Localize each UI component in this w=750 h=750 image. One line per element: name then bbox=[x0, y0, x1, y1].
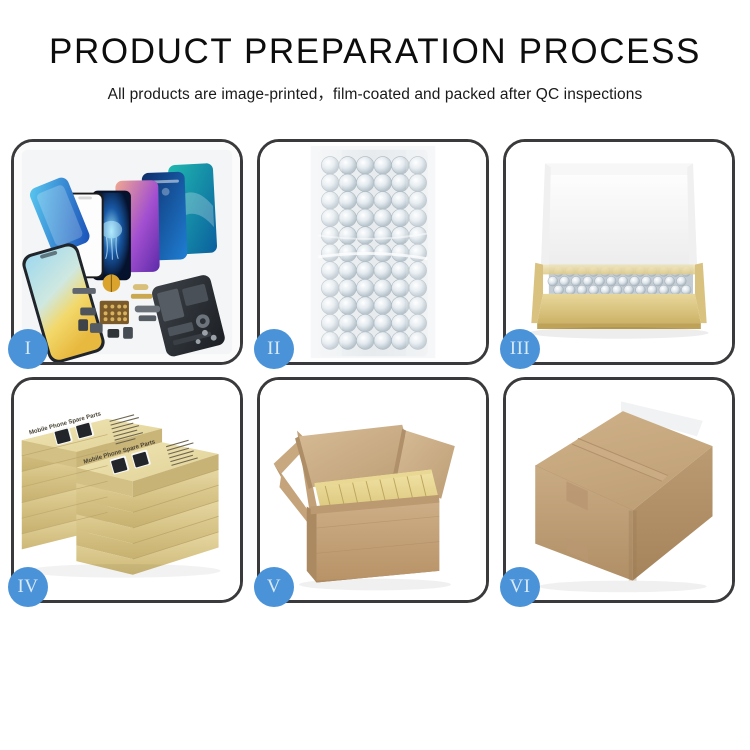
page-header: PRODUCT PREPARATION PROCESS All products… bbox=[0, 0, 750, 104]
page-title: PRODUCT PREPARATION PROCESS bbox=[0, 34, 750, 71]
page-subtitle: All products are image-printed，film-coat… bbox=[0, 82, 750, 104]
step-badge-1: I bbox=[8, 329, 48, 369]
step-image-sealed-carton bbox=[506, 380, 732, 600]
step-badge-4: IV bbox=[8, 567, 48, 607]
step-panel-5: V bbox=[257, 377, 489, 603]
step-badge-2: II bbox=[254, 329, 294, 369]
step-panel-6: VI bbox=[503, 377, 735, 603]
step-badge-3: III bbox=[500, 329, 540, 369]
step-panel-3: III bbox=[503, 139, 735, 365]
step-panel-2: II bbox=[257, 139, 489, 365]
step-image-product-parts bbox=[14, 142, 240, 362]
step-image-bubble-wrap bbox=[260, 142, 486, 362]
step-badge-6: VI bbox=[500, 567, 540, 607]
step-image-stacked-boxes: Mobile Phone Spare Parts bbox=[14, 380, 240, 600]
step-image-open-carton bbox=[260, 380, 486, 600]
process-steps-grid: I bbox=[11, 139, 739, 603]
step-panel-4: Mobile Phone Spare Parts bbox=[11, 377, 243, 603]
step-badge-5: V bbox=[254, 567, 294, 607]
step-image-inner-box bbox=[506, 142, 732, 362]
step-panel-1: I bbox=[11, 139, 243, 365]
